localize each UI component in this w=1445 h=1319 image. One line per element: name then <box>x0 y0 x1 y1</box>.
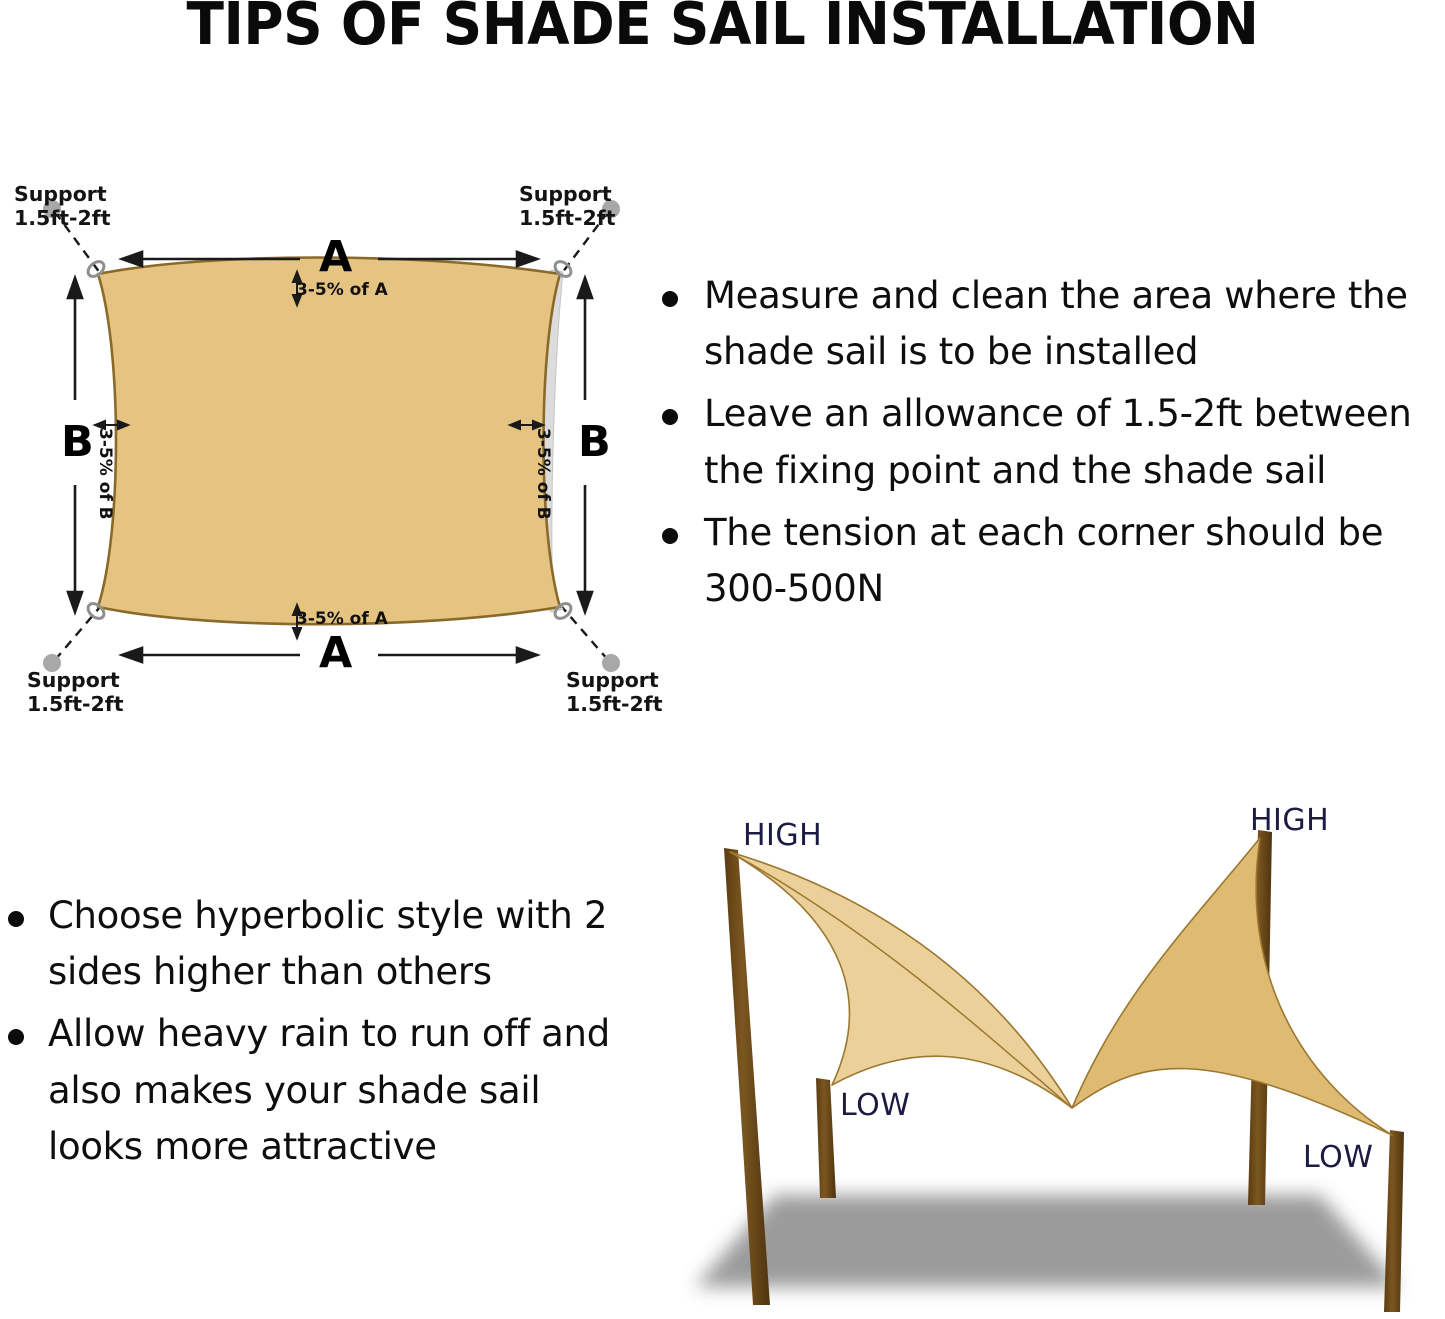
tip-item: Measure and clean the area where the sha… <box>648 268 1445 380</box>
tip-text: Choose hyperbolic style with 2 sides hig… <box>48 894 607 993</box>
dimension-label-b-left: B <box>61 421 94 464</box>
sail-body <box>98 258 560 625</box>
post-front-left <box>816 1078 836 1198</box>
installation-tips-left: Choose hyperbolic style with 2 sides hig… <box>0 888 625 1181</box>
support-distance: 1.5ft-2ft <box>14 206 111 230</box>
support-distance: 1.5ft-2ft <box>566 692 663 716</box>
dimension-label-b-right: B <box>578 421 611 464</box>
installation-tips-right: Measure and clean the area where the sha… <box>648 268 1445 623</box>
bullet-dot-icon <box>662 528 678 544</box>
corner-eyelets <box>85 259 574 622</box>
tip-text: Measure and clean the area where the sha… <box>704 274 1408 373</box>
support-word: Support <box>519 182 612 206</box>
support-label-bottom-left: Support 1.5ft-2ft <box>27 668 124 716</box>
page-title: TIPS OF SHADE SAIL INSTALLATION <box>51 0 1395 53</box>
sail-panel-front <box>730 852 1072 1108</box>
curvature-label-right: 3-5% of B <box>534 428 551 520</box>
support-label-bottom-right: Support 1.5ft-2ft <box>566 668 663 716</box>
bullet-dot-icon <box>662 409 678 425</box>
post-label-high-right: HIGH <box>1250 803 1329 838</box>
support-distance: 1.5ft-2ft <box>27 692 124 716</box>
curvature-label-left: 3-5% of B <box>96 428 113 520</box>
tip-item: Choose hyperbolic style with 2 sides hig… <box>0 888 625 1000</box>
post-front-right <box>1384 1130 1404 1312</box>
tip-item: Allow heavy rain to run off and also mak… <box>0 1006 625 1175</box>
tip-text: Allow heavy rain to run off and also mak… <box>48 1012 610 1167</box>
post-label-high-left: HIGH <box>743 818 822 853</box>
bullet-dot-icon <box>8 1029 24 1045</box>
support-distance: 1.5ft-2ft <box>519 206 616 230</box>
support-label-top-right: Support 1.5ft-2ft <box>519 182 616 230</box>
dimension-label-a-top: A <box>319 236 352 279</box>
tip-text: The tension at each corner should be 300… <box>704 511 1383 610</box>
tip-item: Leave an allowance of 1.5-2ft between th… <box>648 386 1445 498</box>
dimension-label-a-bottom: A <box>319 632 352 675</box>
support-label-top-left: Support 1.5ft-2ft <box>14 182 111 230</box>
support-word: Support <box>566 668 659 692</box>
tip-text: Leave an allowance of 1.5-2ft between th… <box>704 392 1412 491</box>
post-label-low-left: LOW <box>840 1088 910 1123</box>
bullet-dot-icon <box>8 911 24 927</box>
bullet-dot-icon <box>662 291 678 307</box>
post-back-right <box>1248 830 1272 1205</box>
curvature-label-bottom: 3-5% of A <box>296 611 388 628</box>
sail-panel-back <box>1072 838 1392 1135</box>
sail-crease-line <box>730 852 1072 1108</box>
tip-item: The tension at each corner should be 300… <box>648 505 1445 617</box>
post-label-low-right: LOW <box>1303 1140 1373 1175</box>
hyperbolic-sail-diagram <box>640 790 1445 1319</box>
curvature-label-top: 3-5% of A <box>296 282 388 299</box>
poster-root: TIPS OF SHADE SAIL INSTALLATION <box>0 0 1445 1319</box>
ground-shadow <box>695 1195 1400 1287</box>
support-word: Support <box>27 668 120 692</box>
support-word: Support <box>14 182 107 206</box>
post-back-left <box>724 848 770 1305</box>
